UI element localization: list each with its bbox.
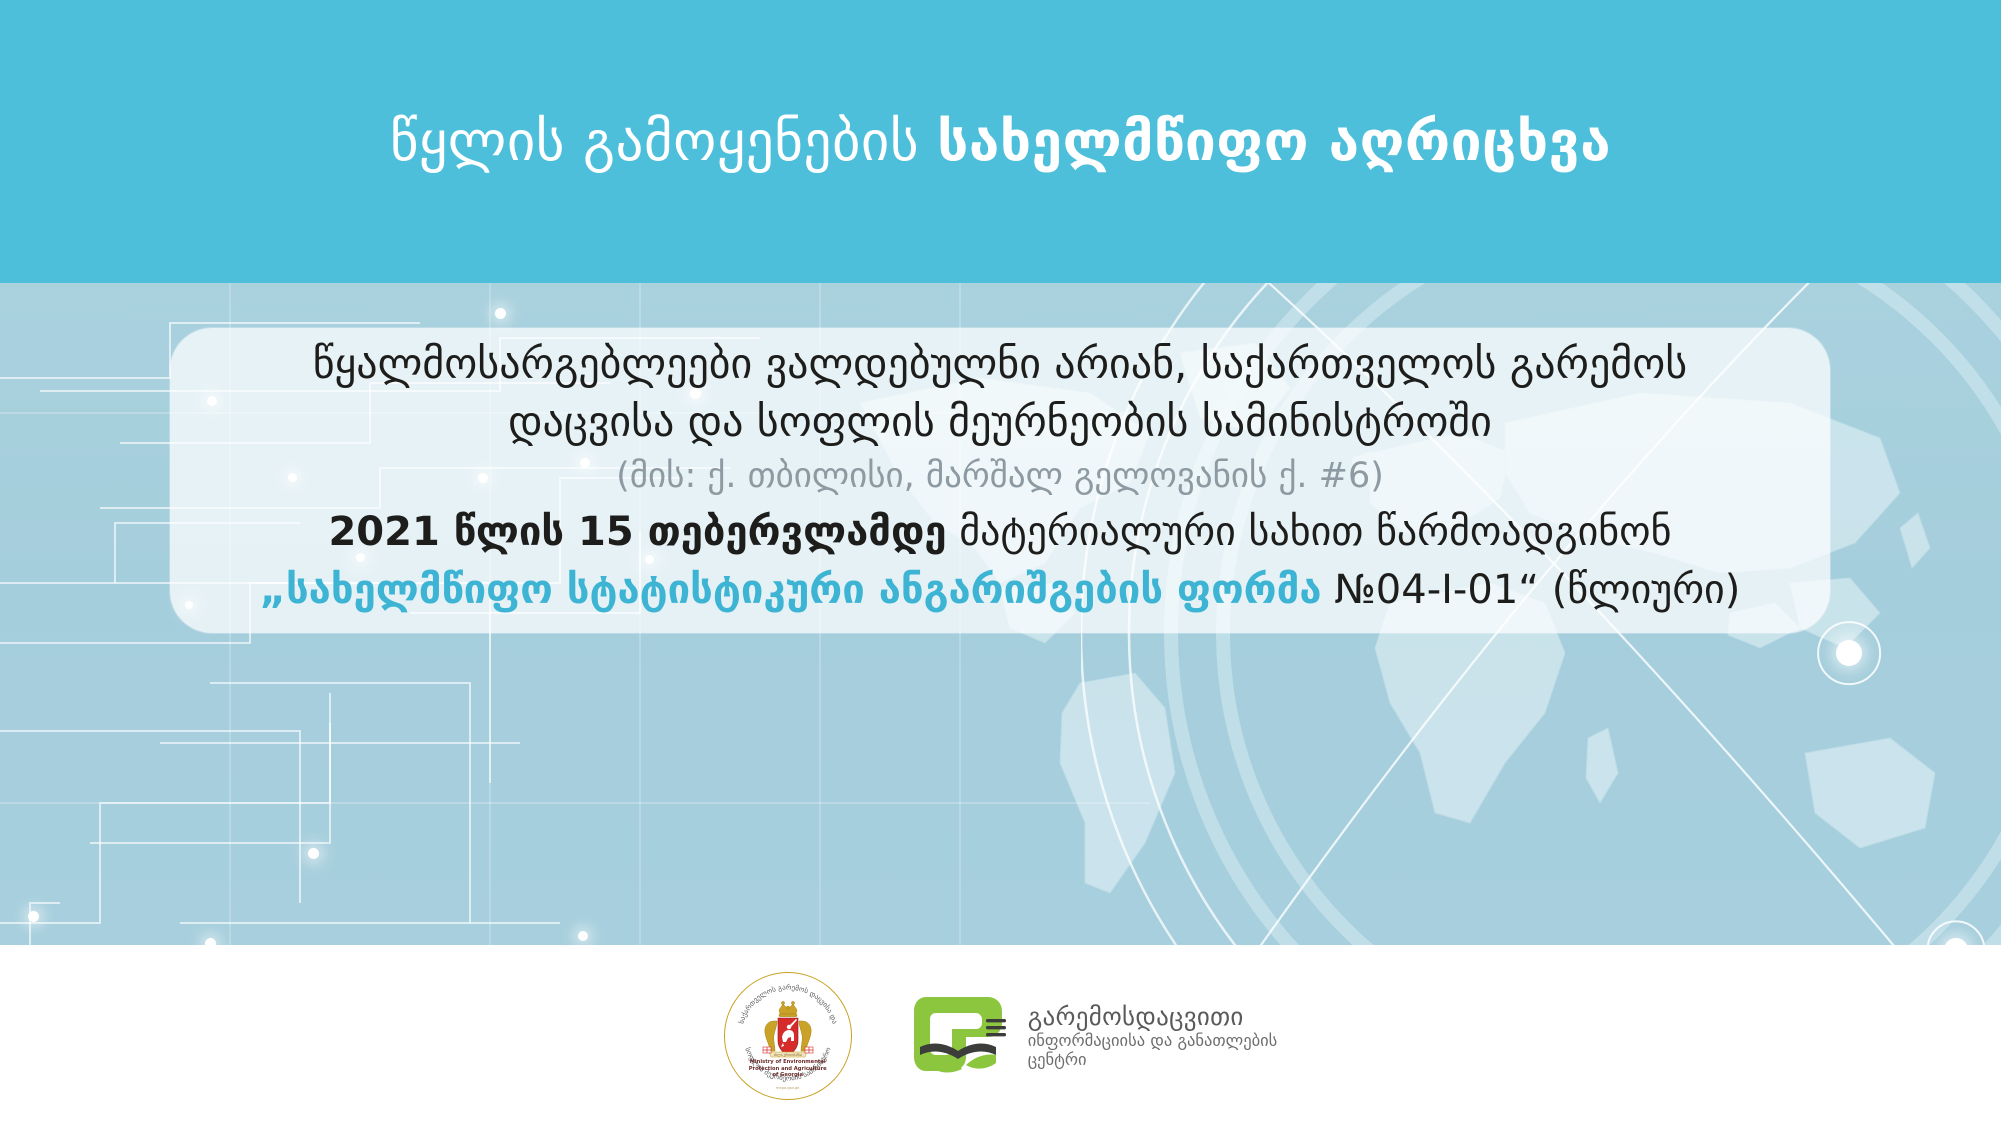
content-card: წყალმოსარგებლეები ვალდებულნი არიან, საქა… xyxy=(170,328,1830,633)
eiec-line-1: გარემოსდაცვითი xyxy=(1028,1003,1278,1030)
page-title-light: წყლის გამოყენების xyxy=(390,109,919,173)
eiec-logo-text: გარემოსდაცვითი ინფორმაციისა და განათლები… xyxy=(1028,1003,1278,1069)
eiec-line-2: ინფორმაციისა და განათლების xyxy=(1028,1032,1278,1050)
glow-node xyxy=(205,938,216,945)
body-stage: წყალმოსარგებლეები ვალდებულნი არიან, საქა… xyxy=(0,283,2001,945)
eiec-logo: გარემოსდაცვითი ინფორმაციისა და განათლები… xyxy=(910,989,1278,1083)
footer-logos: საქართველოს გარემოს დაცვისა და სოფლის მე… xyxy=(0,945,2001,1126)
glow-node xyxy=(578,931,588,941)
card-line-2: დაცვისა და სოფლის მეურნეობის სამინისტროშ… xyxy=(508,393,1492,451)
eiec-line-3: ცენტრი xyxy=(1028,1051,1278,1069)
glow-node xyxy=(495,308,506,319)
card-form-reference: „სახელმწიფო სტატისტიკური ანგარიშგების ფო… xyxy=(260,561,1741,619)
ministry-english-name: Ministry of Environmental Protection and… xyxy=(725,1059,851,1078)
card-line-1: წყალმოსარგებლეები ვალდებულნი არიან, საქა… xyxy=(313,335,1687,393)
card-form-number: №04-I-01“ (წლიური) xyxy=(1321,567,1740,613)
glow-node xyxy=(28,911,39,922)
card-deadline: 2021 წლის 15 თებერვლამდე მატერიალური სახ… xyxy=(328,503,1671,561)
page-title-bold: სახელმწიფო აღრიცხვა xyxy=(937,109,1611,173)
card-deadline-date: 2021 წლის 15 თებერვლამდე xyxy=(328,509,946,555)
glow-node-map-marker xyxy=(1944,938,1968,945)
svg-text:ძალა ერთობაშია: ძალა ერთობაშია xyxy=(773,1053,802,1057)
page-title: წყლის გამოყენების სახელმწიფო აღრიცხვა xyxy=(390,114,1611,169)
ministry-logo: საქართველოს გარემოს დაცვისა და სოფლის მე… xyxy=(724,972,852,1100)
poster-root: წყლის გამოყენების სახელმწიფო აღრიცხვა xyxy=(0,0,2001,1126)
eiec-book-leaf-icon xyxy=(910,989,1014,1083)
card-form-name: „სახელმწიფო სტატისტიკური ანგარიშგების ფო… xyxy=(260,567,1322,613)
glow-node xyxy=(308,848,319,859)
ministry-website: mepa.gov.ge xyxy=(725,1086,851,1090)
ministry-english-line-3: of Georgia xyxy=(725,1072,851,1078)
glow-node-map-marker xyxy=(1836,640,1862,666)
card-address: (მის: ქ. თბილისი, მარშალ გელოვანის ქ. #6… xyxy=(616,451,1384,501)
georgia-coat-of-arms-icon: ძალა ერთობაშია xyxy=(757,999,819,1067)
card-deadline-rest: მატერიალური სახით წარმოადგინონ xyxy=(947,509,1672,555)
header-band: წყლის გამოყენების სახელმწიფო აღრიცხვა xyxy=(0,0,2001,283)
